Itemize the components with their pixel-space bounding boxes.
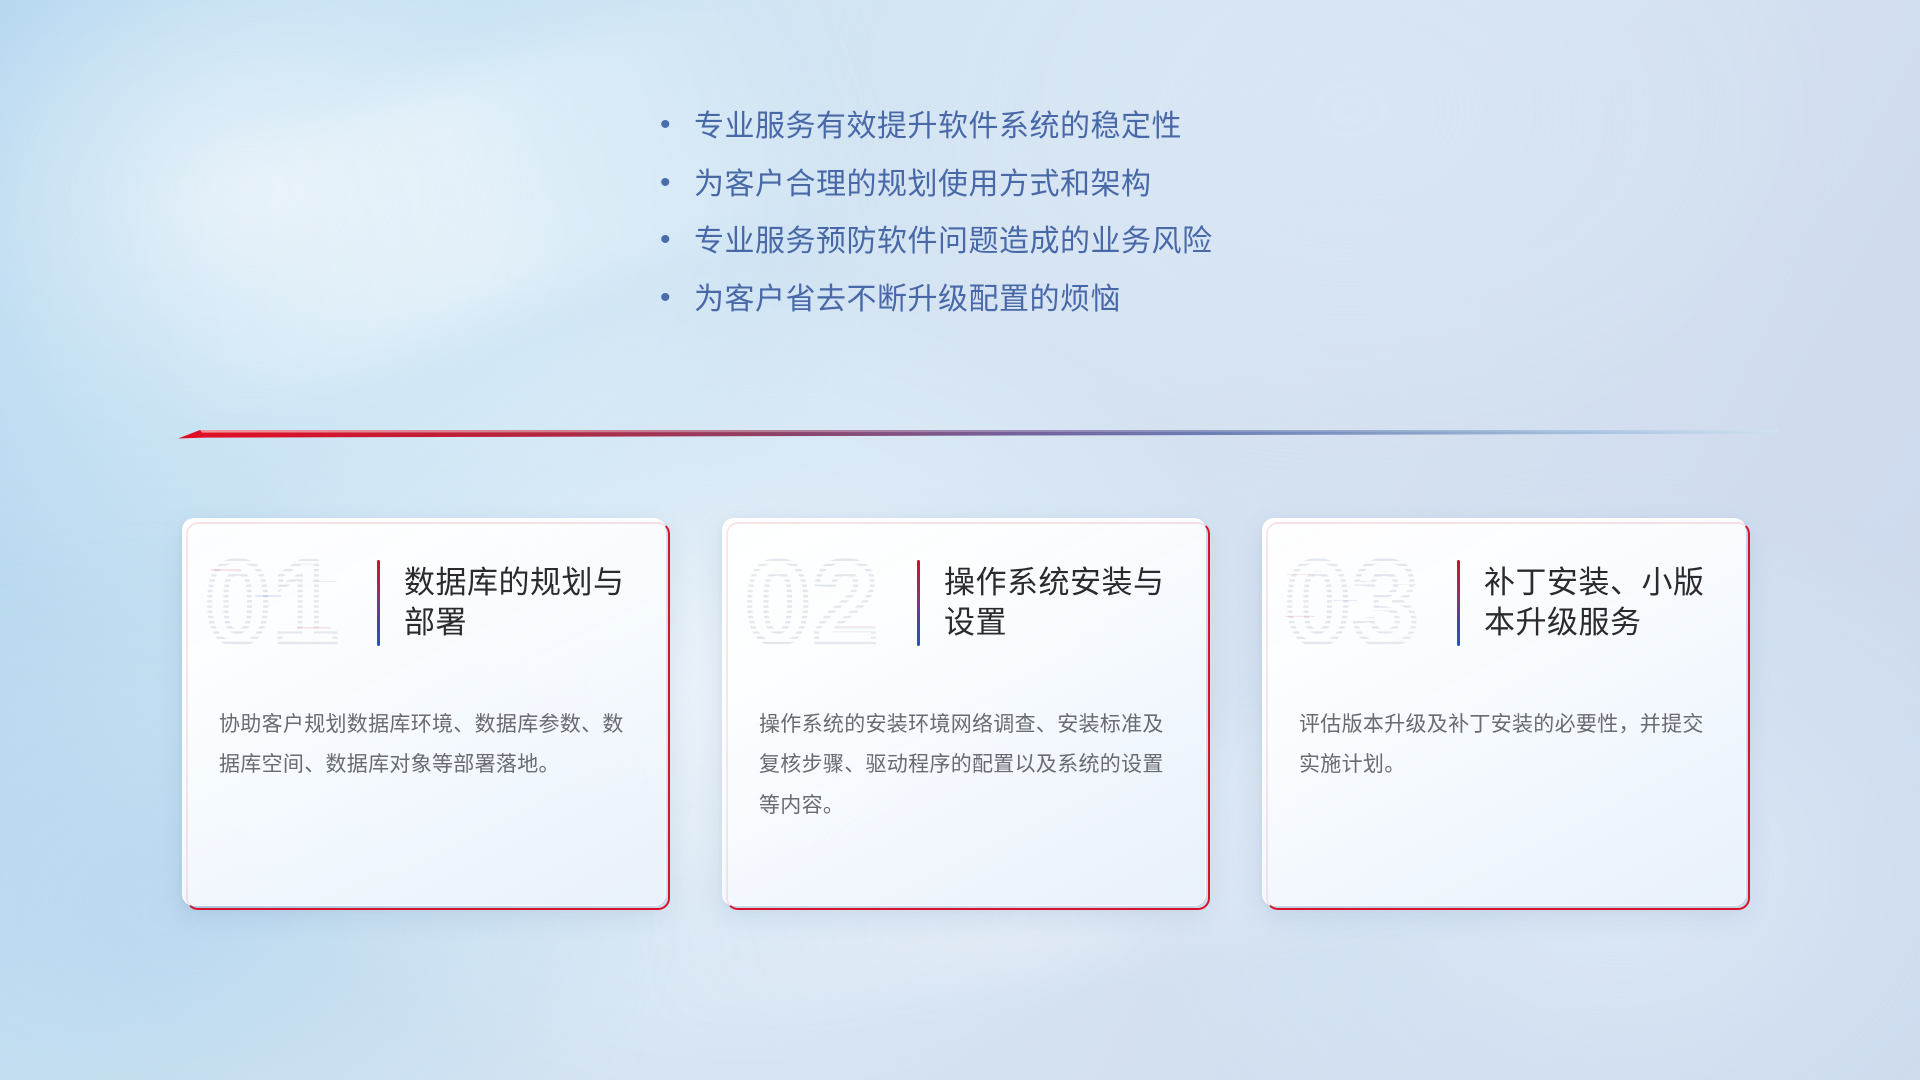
card-number-watermark: 03: [1281, 543, 1453, 663]
svg-text:01: 01: [205, 543, 340, 663]
card-description: 操作系统的安装环境网络调查、安装标准及复核步骤、驱动程序的配置以及系统的设置等内…: [759, 705, 1171, 826]
card-accent-rule: [1457, 560, 1460, 646]
card-surface: 03 补丁安装、小版本升级服务: [1262, 518, 1746, 906]
bullet-text: 为客户省去不断升级配置的烦恼: [694, 281, 1121, 319]
card-number-watermark: 01: [201, 543, 373, 663]
card-title: 数据库的规划与部署: [404, 563, 665, 644]
card-description: 评估版本升级及补丁安装的必要性，并提交实施计划。: [1299, 705, 1711, 786]
card-accent-rule: [917, 560, 920, 646]
list-item: • 为客户合理的规划使用方式和架构: [660, 166, 1560, 204]
card-description: 协助客户规划数据库环境、数据库参数、数据库空间、数据库对象等部署落地。: [219, 705, 631, 786]
svg-text:03: 03: [1285, 543, 1420, 663]
card-header: 01 数据库的规划与部署: [183, 533, 665, 673]
card-surface: 01 数据库的规划与部署: [182, 518, 666, 906]
bullet-point-icon: •: [660, 168, 694, 198]
slide-canvas: • 专业服务有效提升软件系统的稳定性 • 为客户合理的规划使用方式和架构 • 专…: [0, 0, 1920, 1080]
bullet-text: 专业服务有效提升软件系统的稳定性: [694, 108, 1182, 146]
list-item: • 专业服务预防软件问题造成的业务风险: [660, 223, 1560, 261]
service-card[interactable]: 02 操作系统安装与设置 操作系统的安装环境网络调: [726, 522, 1210, 910]
striped-numeral-icon: 03: [1281, 543, 1453, 663]
card-accent-rule: [377, 560, 380, 646]
card-header: 03 补丁安装、小版本升级服务: [1263, 533, 1745, 673]
service-card-list: 01 数据库的规划与部署: [186, 522, 1750, 910]
card-title: 补丁安装、小版本升级服务: [1484, 563, 1745, 644]
bullet-text: 为客户合理的规划使用方式和架构: [694, 166, 1152, 204]
list-item: • 为客户省去不断升级配置的烦恼: [660, 281, 1560, 319]
service-card[interactable]: 01 数据库的规划与部署: [186, 522, 670, 910]
divider-wedge-icon: [178, 424, 1778, 450]
bullet-point-icon: •: [660, 225, 694, 255]
service-card[interactable]: 03 补丁安装、小版本升级服务: [1266, 522, 1750, 910]
card-number-watermark: 02: [741, 543, 913, 663]
card-title: 操作系统安装与设置: [944, 563, 1205, 644]
bullet-point-icon: •: [660, 283, 694, 313]
card-surface: 02 操作系统安装与设置 操作系统的安装环境网络调: [722, 518, 1206, 906]
list-item: • 专业服务有效提升软件系统的稳定性: [660, 108, 1560, 146]
striped-numeral-icon: 01: [201, 543, 373, 663]
benefits-bullet-list: • 专业服务有效提升软件系统的稳定性 • 为客户合理的规划使用方式和架构 • 专…: [660, 108, 1560, 338]
bullet-text: 专业服务预防软件问题造成的业务风险: [694, 223, 1213, 261]
striped-numeral-icon: 02: [741, 543, 913, 663]
card-header: 02 操作系统安装与设置: [723, 533, 1205, 673]
section-divider: [178, 424, 1778, 450]
bullet-point-icon: •: [660, 110, 694, 140]
